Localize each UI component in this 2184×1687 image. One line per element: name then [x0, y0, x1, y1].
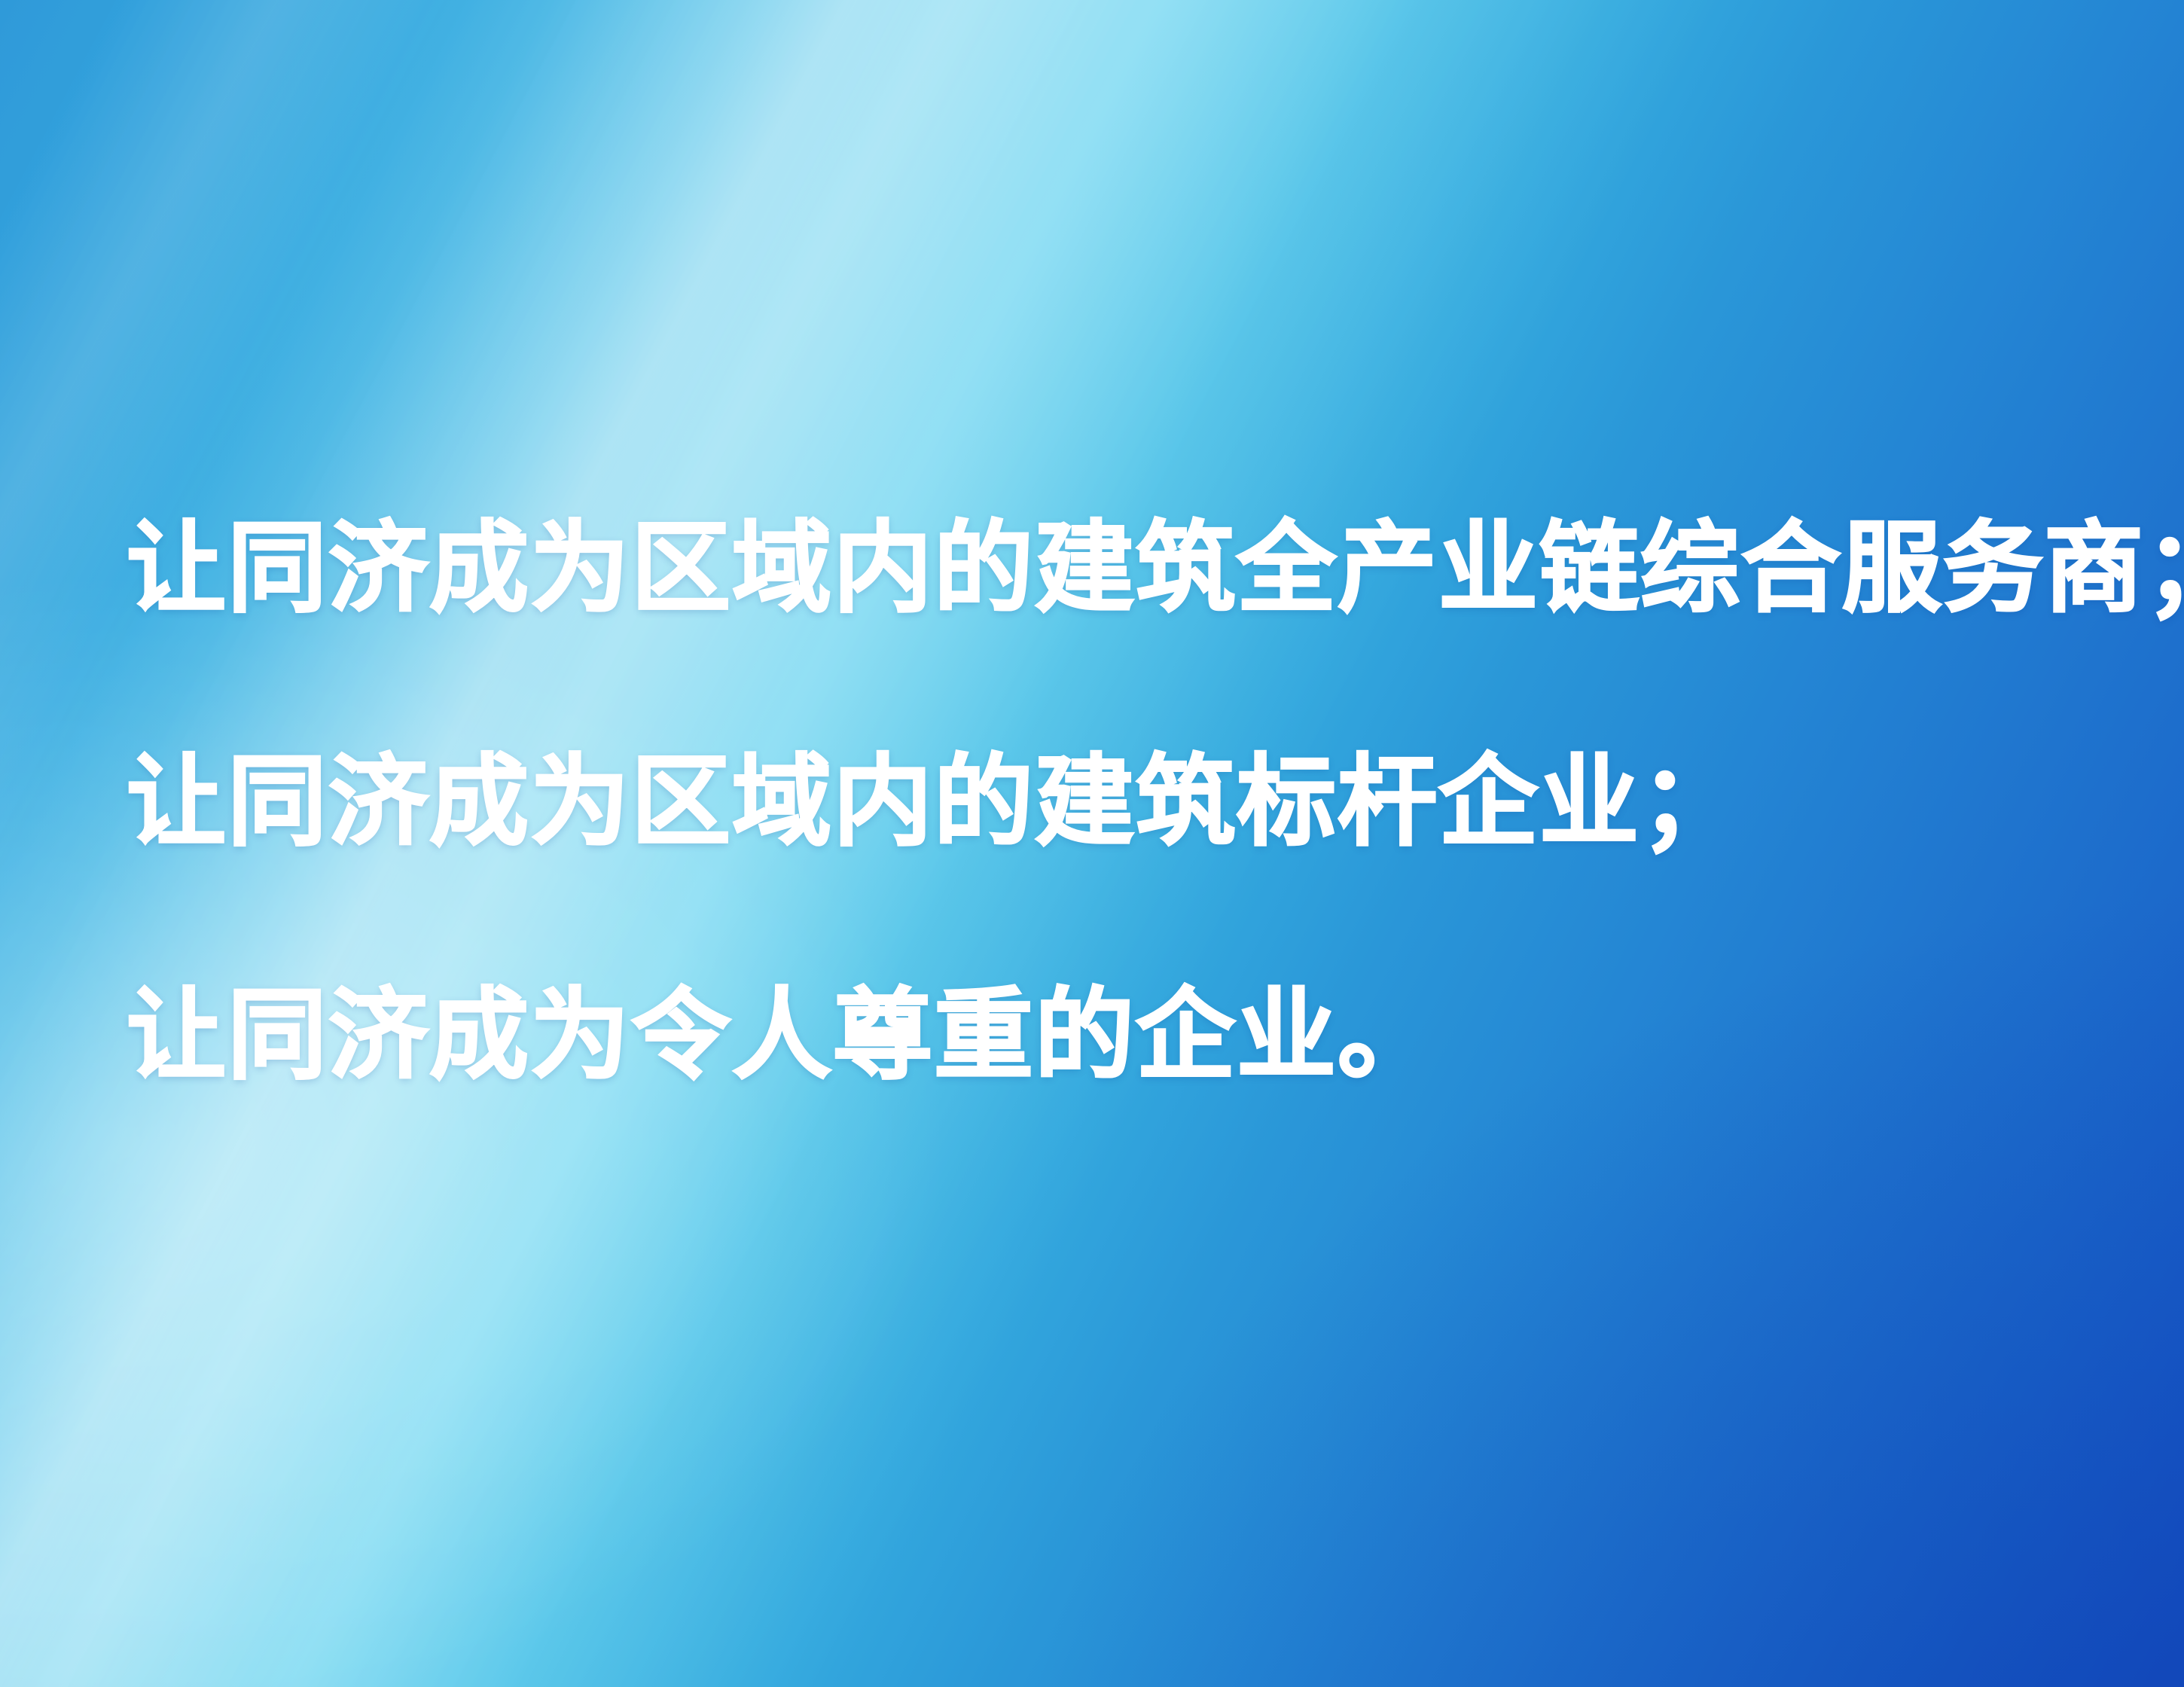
slide-line-3: 让同济成为令人尊重的企业。: [127, 919, 2100, 1152]
slide-text-block: 让同济成为区域内的建筑全产业链综合服务商； 让同济成为区域内的建筑标杆企业； 让…: [127, 452, 2100, 1152]
presentation-slide: 让同济成为区域内的建筑全产业链综合服务商； 让同济成为区域内的建筑标杆企业； 让…: [0, 0, 2184, 1687]
slide-line-2: 让同济成为区域内的建筑标杆企业；: [127, 685, 2100, 919]
slide-line-1: 让同济成为区域内的建筑全产业链综合服务商；: [127, 452, 2100, 685]
